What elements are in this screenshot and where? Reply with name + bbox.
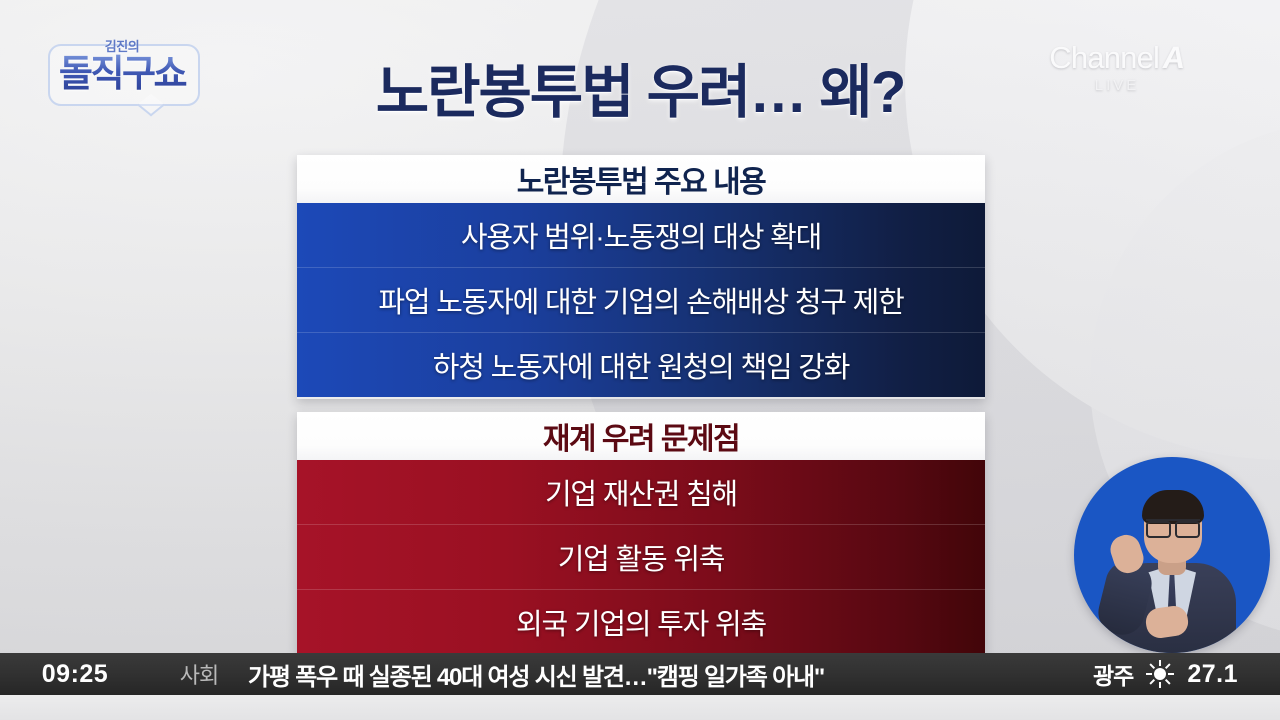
ticker-time: 09:25	[0, 660, 150, 689]
panel-blue-rows: 사용자 범위·노동쟁의 대상 확대 파업 노동자에 대한 기업의 손해배상 청구…	[297, 203, 985, 399]
list-item: 하청 노동자에 대한 원청의 책임 강화	[297, 332, 985, 397]
list-item: 파업 노동자에 대한 기업의 손해배상 청구 제한	[297, 267, 985, 332]
list-item-text: 하청 노동자에 대한 원청의 책임 강화	[433, 344, 850, 386]
panel-header-red-text: 재계 우려 문제점	[543, 414, 739, 458]
list-item-text: 외국 기업의 투자 위축	[516, 601, 766, 643]
sun-ray	[1150, 663, 1156, 669]
list-item: 사용자 범위·노동쟁의 대상 확대	[297, 203, 985, 267]
list-item-text: 기업 활동 위축	[558, 536, 725, 578]
sign-language-interpreter	[1074, 457, 1270, 653]
broadcast-screen: 김진의 돌직구쇼 노란봉투법 우려… 왜? ChannelA LIVE 노란봉투…	[0, 0, 1280, 720]
network-brand-name: Channel	[1049, 40, 1159, 75]
list-item: 기업 활동 위축	[297, 524, 985, 589]
glasses-icon	[1146, 519, 1200, 533]
panel-red-rows: 기업 재산권 침해 기업 활동 위축 외국 기업의 투자 위축	[297, 460, 985, 654]
bottom-strip	[0, 695, 1280, 720]
sun-ray	[1159, 682, 1161, 688]
sun-icon	[1147, 661, 1173, 687]
panel-header-red: 재계 우려 문제점	[297, 412, 985, 460]
list-item-text: 파업 노동자에 대한 기업의 손해배상 청구 제한	[378, 279, 903, 321]
weather-widget: 광주 27.1	[1093, 657, 1280, 691]
list-item: 외국 기업의 투자 위축	[297, 589, 985, 654]
sun-ray	[1146, 673, 1152, 675]
sun-ray	[1165, 679, 1171, 685]
network-brand: ChannelA	[1002, 40, 1232, 76]
panel-header-blue-text: 노란봉투법 주요 내용	[517, 157, 766, 201]
sun-ray	[1150, 679, 1156, 685]
ticker-category: 사회	[150, 658, 248, 690]
list-item-text: 기업 재산권 침해	[545, 471, 737, 513]
weather-city: 광주	[1093, 657, 1133, 691]
live-badge: LIVE	[1002, 77, 1232, 95]
weather-temperature: 27.1	[1187, 660, 1238, 689]
network-brand-mark: A	[1160, 40, 1187, 76]
network-logo: ChannelA LIVE	[1002, 40, 1232, 95]
panel-header-blue: 노란봉투법 주요 내용	[297, 155, 985, 203]
ticker-headline: 가평 폭우 때 실종된 40대 여성 시신 발견…"캠핑 일가족 아내"	[248, 657, 1093, 692]
panel-business-concerns: 재계 우려 문제점 기업 재산권 침해 기업 활동 위축 외국 기업의 투자 위…	[297, 412, 985, 654]
news-ticker: 09:25 사회 가평 폭우 때 실종된 40대 여성 시신 발견…"캠핑 일가…	[0, 653, 1280, 695]
sun-ray	[1159, 660, 1161, 666]
list-item-text: 사용자 범위·노동쟁의 대상 확대	[461, 214, 821, 256]
sun-ray	[1168, 673, 1174, 675]
list-item: 기업 재산권 침해	[297, 460, 985, 524]
sun-ray	[1165, 663, 1171, 669]
panel-bill-contents: 노란봉투법 주요 내용 사용자 범위·노동쟁의 대상 확대 파업 노동자에 대한…	[297, 155, 985, 399]
sun-core	[1154, 668, 1166, 680]
